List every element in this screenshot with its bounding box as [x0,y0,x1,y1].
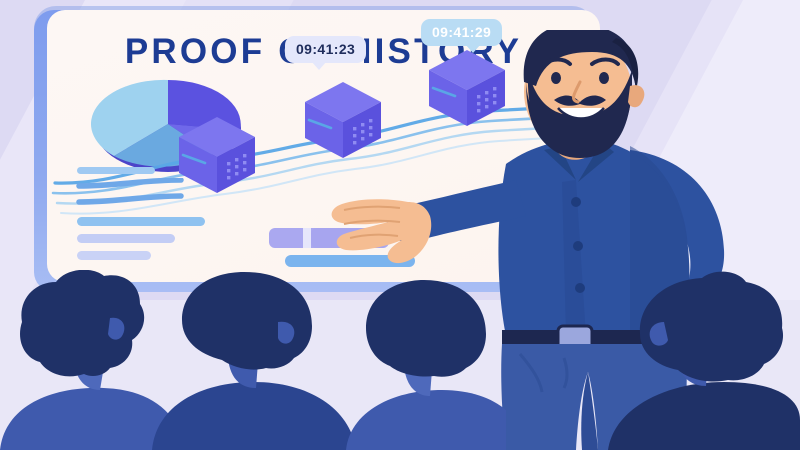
audience-silhouette [0,270,186,450]
audience-silhouette [346,280,506,450]
blockchain-node [175,115,259,197]
placeholder-line [77,167,155,174]
placeholder-wave-lines [75,178,185,212]
progress-divider [303,228,311,248]
placeholder-bar [77,251,151,260]
audience-silhouette [152,272,356,450]
illustration-scene: PROOF OF HISTORY [0,0,800,450]
placeholder-bar [77,234,175,243]
audience-group [0,270,800,450]
audience-silhouette [608,272,800,450]
placeholder-bar [77,217,205,226]
